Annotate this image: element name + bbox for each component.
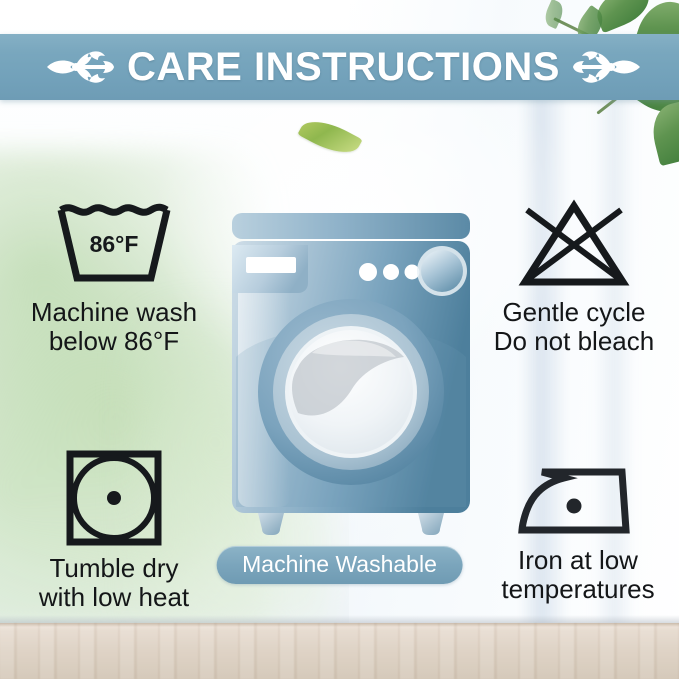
washer-knob: [421, 250, 463, 292]
washer-top-lid: [232, 213, 470, 239]
page-title: CARE INSTRUCTIONS: [115, 47, 572, 87]
machine-washable-badge: Machine Washable: [216, 546, 463, 584]
label-line-2: temperatures: [501, 575, 654, 604]
iron-low-heat-icon: [516, 448, 640, 540]
care-symbol-label: Tumble dry with low heat: [39, 554, 189, 612]
care-symbol-iron: Iron at low temperatures: [479, 448, 677, 604]
wood-grain-texture: [0, 623, 679, 679]
fleur-de-lis-icon-right: [572, 42, 642, 92]
label-line-1: Machine wash: [31, 298, 197, 327]
header-banner: CARE INSTRUCTIONS: [0, 34, 679, 100]
tumble-dry-low-icon: [62, 448, 166, 548]
care-instructions-infographic: CARE INSTRUCTIONS 86°F: [0, 0, 679, 679]
label-line-1: Iron at low: [501, 546, 654, 575]
wooden-table-surface: [0, 623, 679, 679]
care-symbol-label: Iron at low temperatures: [501, 546, 654, 604]
label-line-1: Gentle cycle: [494, 298, 654, 327]
washing-machine-illustration: [228, 207, 474, 537]
care-symbol-label: Machine wash below 86°F: [31, 298, 197, 356]
care-symbol-tumble-dry: Tumble dry with low heat: [14, 448, 214, 612]
fleur-de-lis-icon-left: [45, 42, 115, 92]
label-line-2: below 86°F: [31, 327, 197, 356]
triangle-crossed-no-bleach-icon: [509, 196, 639, 292]
washer-button-1: [359, 263, 377, 281]
wash-temperature-value: 86°F: [90, 231, 139, 257]
washer-foot-right: [418, 513, 444, 535]
washer-foot-left: [258, 513, 284, 535]
care-symbol-no-bleach: Gentle cycle Do not bleach: [475, 196, 673, 356]
label-line-2: Do not bleach: [494, 327, 654, 356]
care-symbol-machine-wash: 86°F Machine wash below 86°F: [14, 196, 214, 356]
label-line-2: with low heat: [39, 583, 189, 612]
table-shadow: [0, 615, 679, 623]
washer-drawer-slot: [246, 257, 296, 273]
wash-tub-icon: 86°F: [51, 196, 177, 292]
label-line-1: Tumble dry: [39, 554, 189, 583]
washer-button-2: [383, 264, 399, 280]
table-front-edge: [0, 623, 679, 627]
care-symbol-label: Gentle cycle Do not bleach: [494, 298, 654, 356]
